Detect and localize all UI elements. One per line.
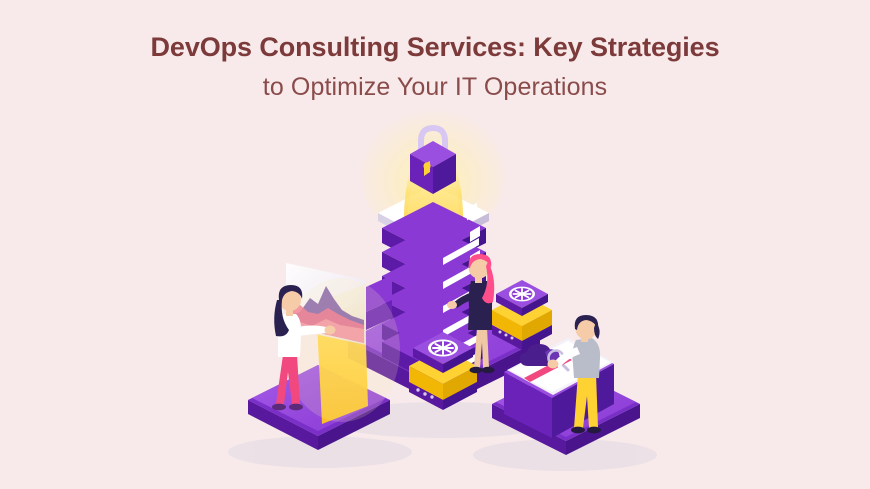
analytics-glow bbox=[284, 278, 400, 422]
illustration-canvas bbox=[0, 0, 870, 489]
fan-icon bbox=[428, 340, 458, 357]
fan-icon bbox=[509, 287, 535, 302]
hero-illustration bbox=[0, 0, 870, 489]
banner-root: DevOps Consulting Services: Key Strategi… bbox=[0, 0, 870, 489]
